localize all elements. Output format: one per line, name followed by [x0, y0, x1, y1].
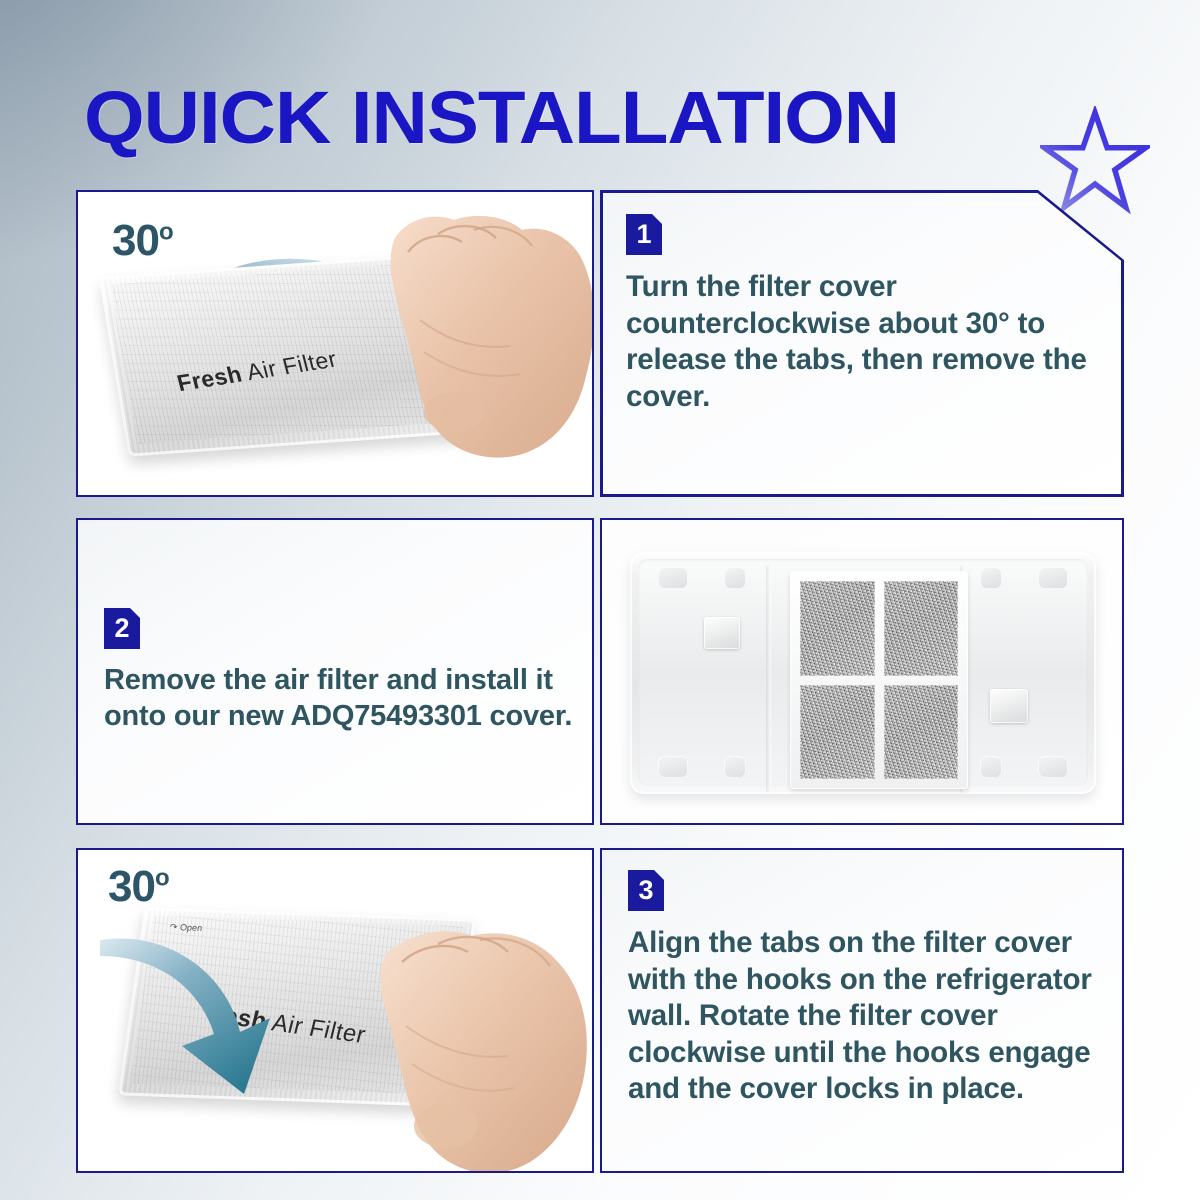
hand-holding-icon — [368, 918, 594, 1173]
step-1-text: Turn the filter cover counterclockwise a… — [626, 269, 1106, 415]
page-title: QUICK INSTALLATION — [84, 66, 899, 170]
step-3-photo: 30o ↷ Open resh Air Filter — [78, 850, 592, 1171]
step-badge-3: 3 — [628, 870, 664, 911]
curved-arrow-clockwise-icon — [94, 922, 304, 1102]
step-3-content: 3 Align the tabs on the filter cover wit… — [628, 870, 1104, 1108]
step-3-text: Align the tabs on the filter cover with … — [628, 925, 1104, 1108]
step-1-content: 1 Turn the filter cover counterclockwise… — [626, 214, 1106, 415]
step-badge-2: 2 — [104, 608, 140, 649]
angle-label-step-3: 30o — [108, 862, 169, 912]
step-2-photo — [602, 520, 1122, 823]
infographic-page: QUICK INSTALLATION 30o — [0, 0, 1200, 1200]
hand-holding-icon — [350, 200, 594, 480]
tab-clip-right — [990, 689, 1028, 723]
filter-media-cell — [800, 685, 875, 780]
air-filter-cover-top-view-icon — [630, 552, 1096, 794]
filter-media-cell — [884, 581, 959, 676]
step-2-text-panel: 2 Remove the air filter and install it o… — [76, 518, 594, 825]
filter-media-cell — [884, 685, 959, 780]
star-icon — [1040, 106, 1150, 216]
tab-clip-left — [704, 617, 740, 649]
header: QUICK INSTALLATION — [0, 66, 1200, 174]
step-1-text-panel: 1 Turn the filter cover counterclockwise… — [600, 190, 1124, 497]
filter-media-cell — [800, 581, 875, 676]
step-2-image-panel — [600, 518, 1124, 825]
step-3-text-panel: 3 Align the tabs on the filter cover wit… — [600, 848, 1124, 1173]
step-3-image-panel: 30o ↷ Open resh Air Filter — [76, 848, 594, 1173]
step-1-photo: 30o Fresh Air Filter — [78, 192, 592, 495]
step-2-content: 2 Remove the air filter and install it o… — [104, 608, 574, 735]
step-2-text: Remove the air filter and install it ont… — [104, 663, 574, 735]
step-badge-1: 1 — [626, 214, 662, 255]
filter-media-grid — [790, 571, 968, 789]
step-1-image-panel: 30o Fresh Air Filter — [76, 190, 594, 497]
